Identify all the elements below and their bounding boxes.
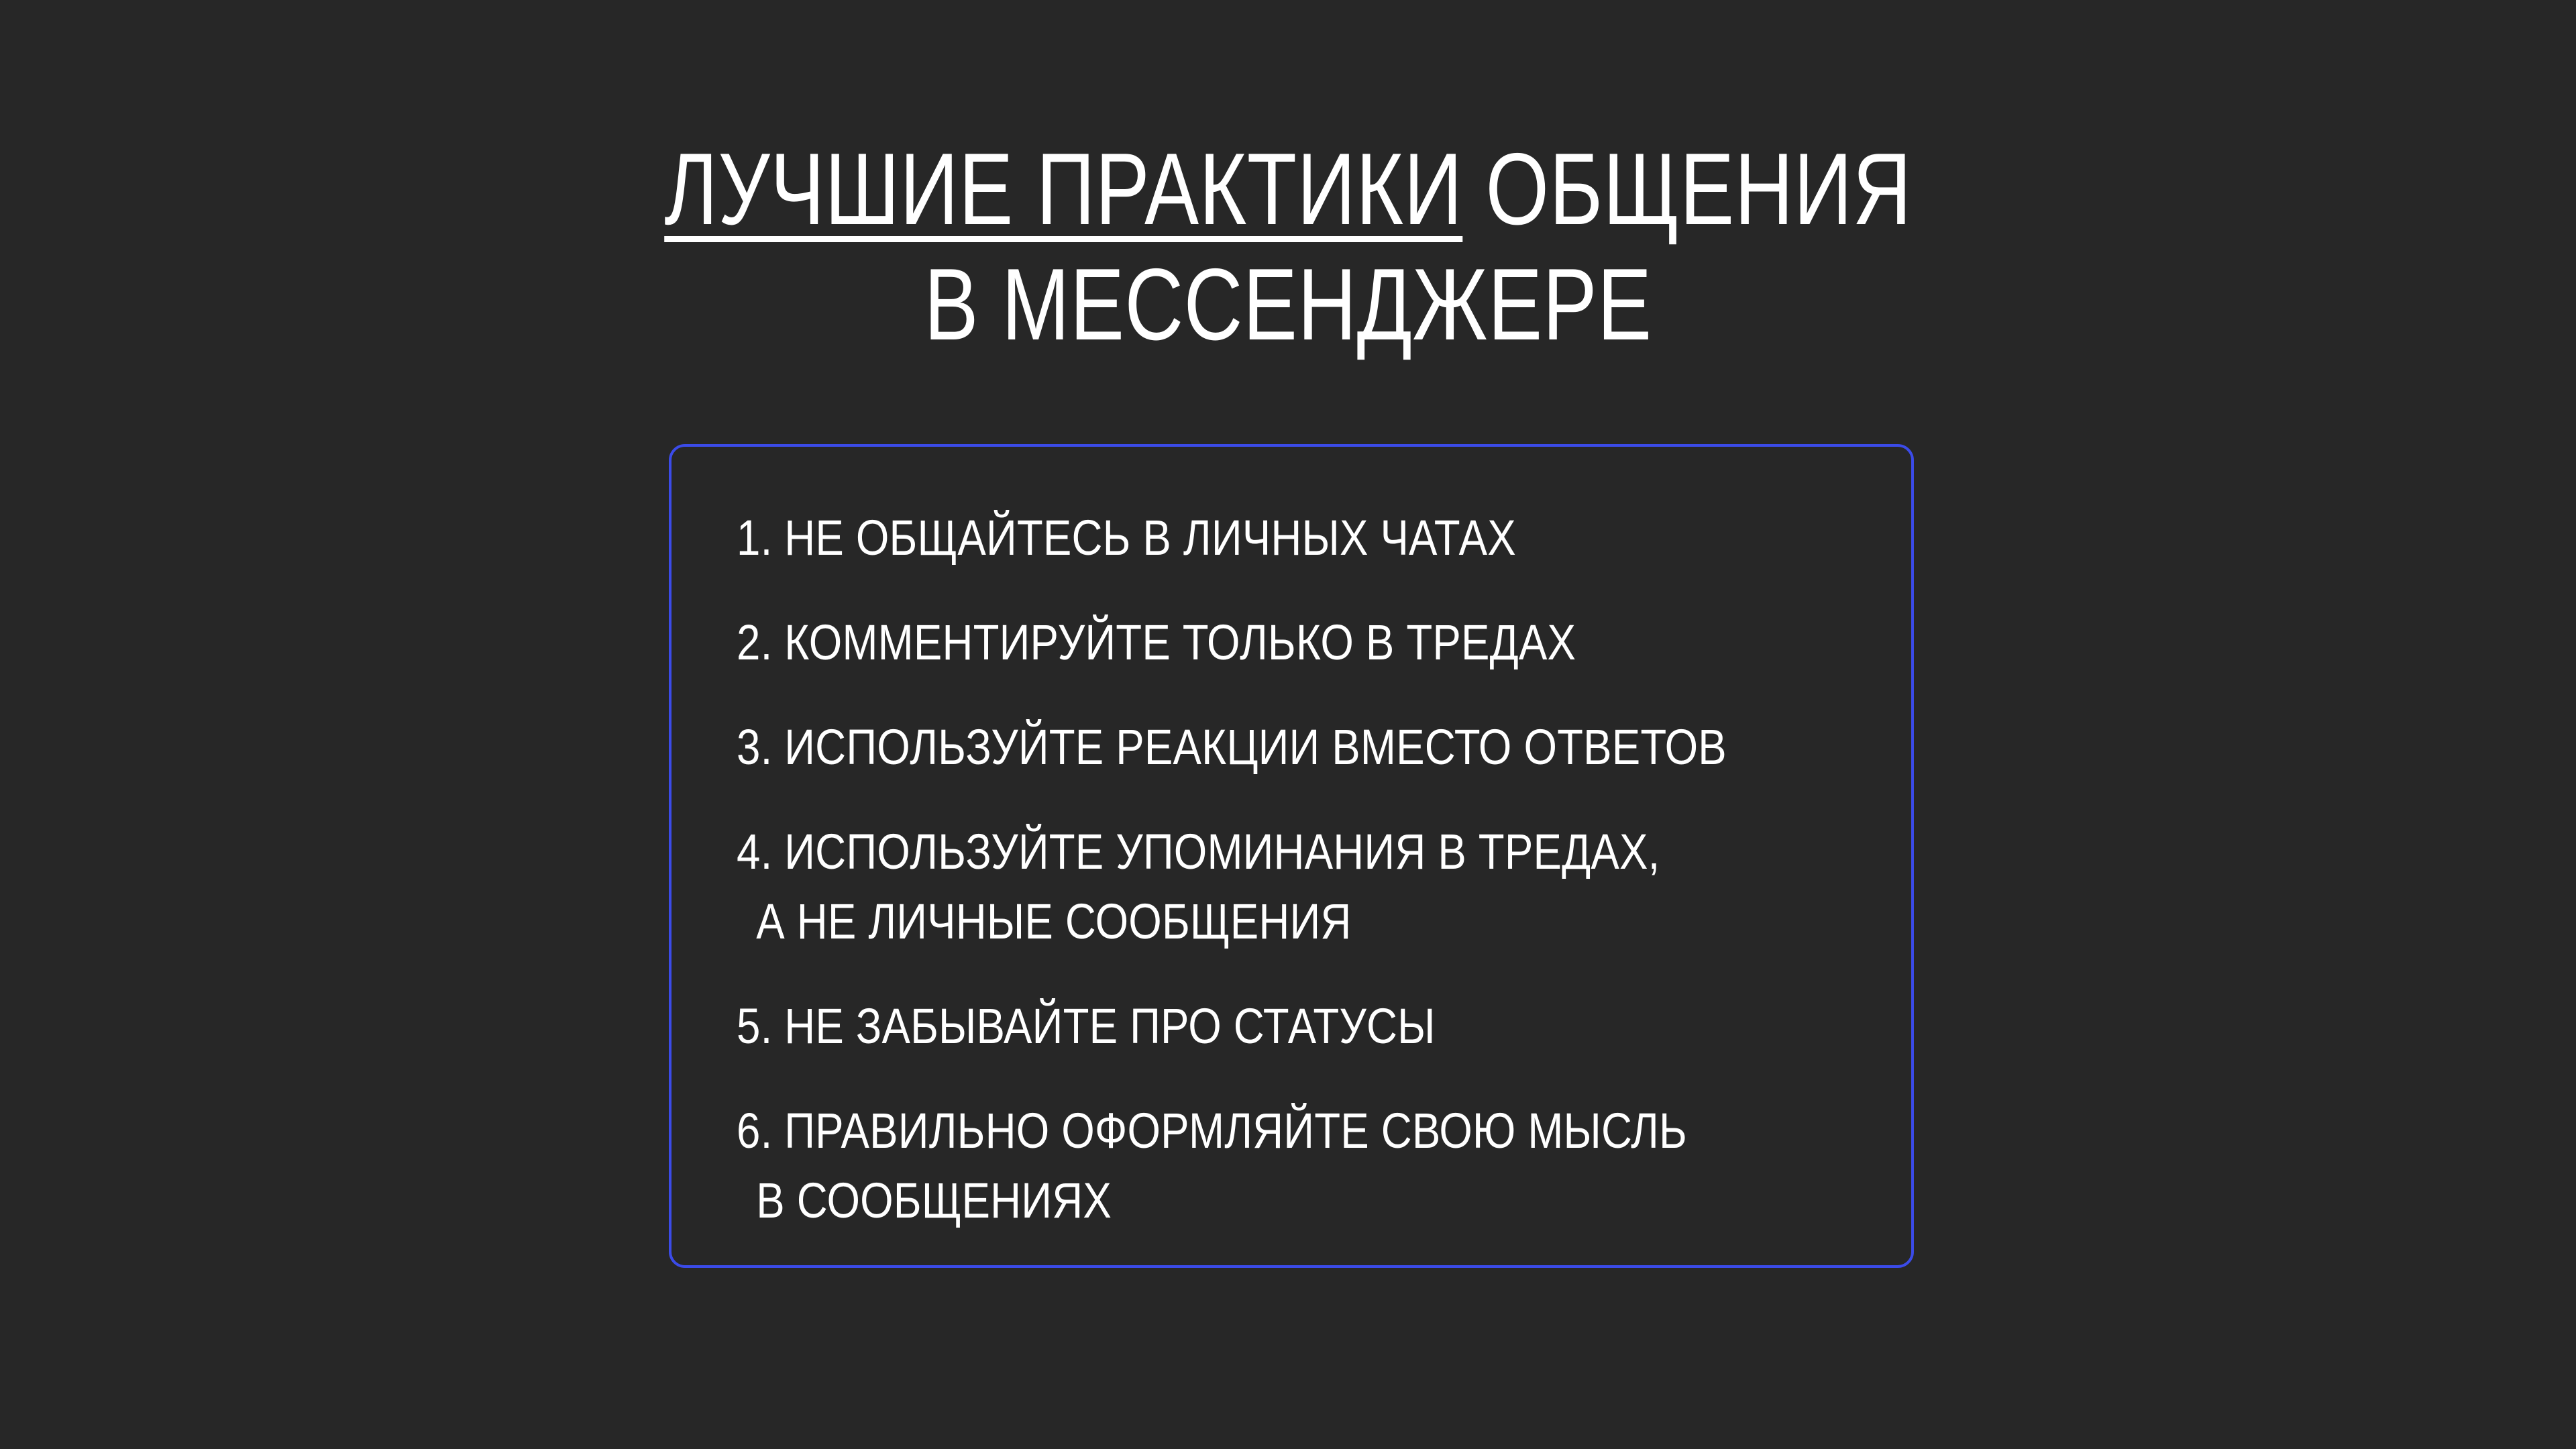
list-item: 1. НЕ ОБЩАЙТЕСЬ В ЛИЧНЫХ ЧАТАХ (737, 503, 1723, 573)
list-item-line: 3. ИСПОЛЬЗУЙТЕ РЕАКЦИИ ВМЕСТО ОТВЕТОВ (737, 712, 1723, 782)
page-title: ЛУЧШИЕ ПРАКТИКИ ОБЩЕНИЯ В МЕССЕНДЖЕРЕ (0, 131, 2576, 362)
list-item-line-continuation: В СООБЩЕНИЯХ (737, 1166, 1723, 1236)
list-item: 4. ИСПОЛЬЗУЙТЕ УПОМИНАНИЯ В ТРЕДАХ, А НЕ… (737, 817, 1723, 957)
list-item: 2. КОММЕНТИРУЙТЕ ТОЛЬКО В ТРЕДАХ (737, 608, 1723, 678)
best-practices-list: 1. НЕ ОБЩАЙТЕСЬ В ЛИЧНЫХ ЧАТАХ 2. КОММЕН… (737, 503, 1884, 1236)
slide-root: ЛУЧШИЕ ПРАКТИКИ ОБЩЕНИЯ В МЕССЕНДЖЕРЕ 1.… (0, 0, 2576, 1449)
title-plain-segment: ОБЩЕНИЯ (1462, 132, 1912, 246)
title-underlined-segment: ЛУЧШИЕ ПРАКТИКИ (664, 132, 1462, 246)
title-line-1: ЛУЧШИЕ ПРАКТИКИ ОБЩЕНИЯ (258, 131, 2318, 247)
list-item: 6. ПРАВИЛЬНО ОФОРМЛЯЙТЕ СВОЮ МЫСЛЬ В СОО… (737, 1096, 1723, 1236)
list-item-line-continuation: А НЕ ЛИЧНЫЕ СООБЩЕНИЯ (737, 887, 1723, 957)
list-item-line: 2. КОММЕНТИРУЙТЕ ТОЛЬКО В ТРЕДАХ (737, 608, 1723, 678)
list-item-line: 4. ИСПОЛЬЗУЙТЕ УПОМИНАНИЯ В ТРЕДАХ, (737, 817, 1723, 887)
list-item: 3. ИСПОЛЬЗУЙТЕ РЕАКЦИИ ВМЕСТО ОТВЕТОВ (737, 712, 1723, 782)
list-item-line: 6. ПРАВИЛЬНО ОФОРМЛЯЙТЕ СВОЮ МЫСЛЬ (737, 1096, 1723, 1166)
list-item: 5. НЕ ЗАБЫВАЙТЕ ПРО СТАТУСЫ (737, 991, 1723, 1061)
title-line-2: В МЕССЕНДЖЕРЕ (258, 247, 2318, 362)
list-item-line: 5. НЕ ЗАБЫВАЙТЕ ПРО СТАТУСЫ (737, 991, 1723, 1061)
list-item-line: 1. НЕ ОБЩАЙТЕСЬ В ЛИЧНЫХ ЧАТАХ (737, 503, 1723, 573)
best-practices-card: 1. НЕ ОБЩАЙТЕСЬ В ЛИЧНЫХ ЧАТАХ 2. КОММЕН… (669, 444, 1914, 1268)
